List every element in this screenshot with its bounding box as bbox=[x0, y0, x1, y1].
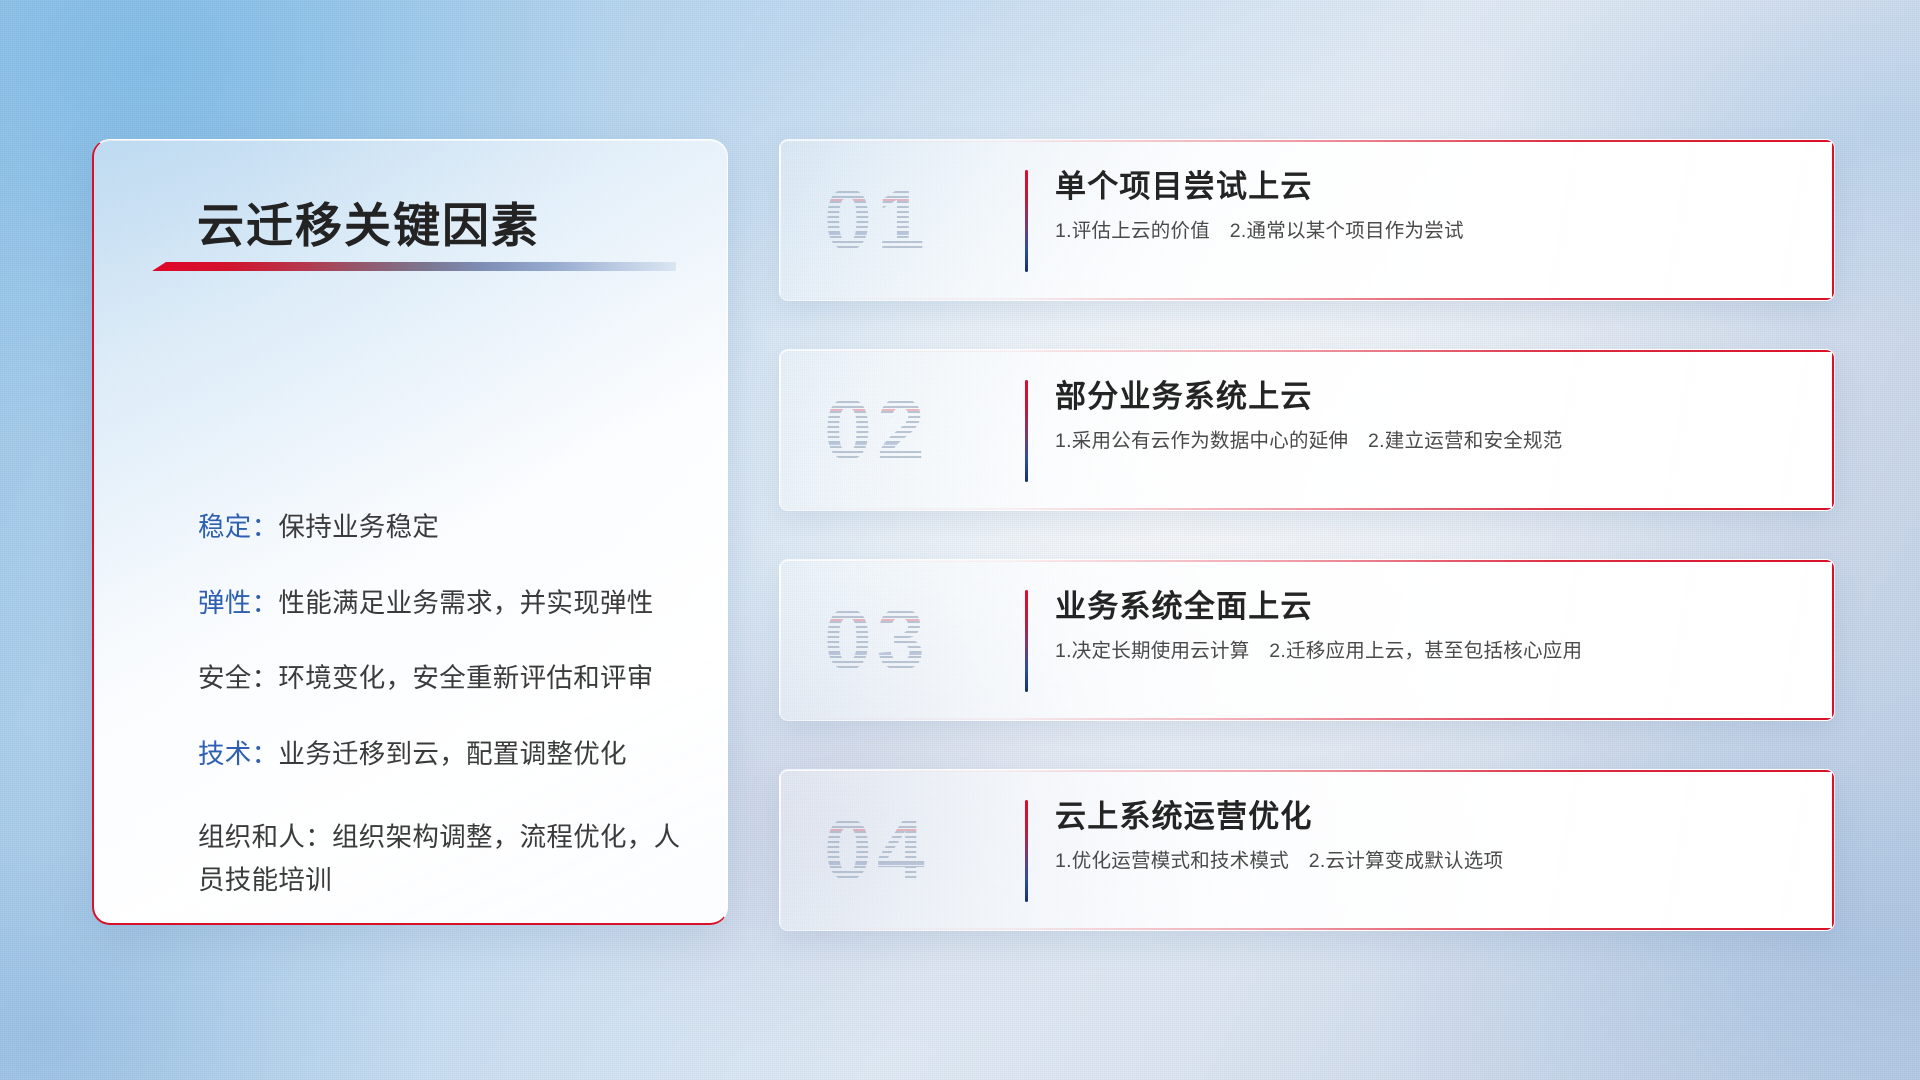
stage-accent-divider bbox=[1025, 170, 1028, 272]
stage-card-04[interactable]: 04 04 云上系统运营优化 1.优化运营模式和技术模式 2.云计算变成默认选项 bbox=[779, 769, 1835, 931]
card-border-right bbox=[1832, 560, 1834, 720]
stage-number-group: 03 03 bbox=[780, 560, 1020, 720]
stage-title: 部分业务系统上云 bbox=[1055, 379, 1810, 416]
stage-number-glitch-overlay: 01 bbox=[824, 177, 930, 263]
card-border-right bbox=[1832, 350, 1834, 510]
stage-accent-divider bbox=[1025, 590, 1028, 692]
stage-subtitle: 1.优化运营模式和技术模式 2.云计算变成默认选项 bbox=[1055, 849, 1810, 874]
stage-text-block: 部分业务系统上云 1.采用公有云作为数据中心的延伸 2.建立运营和安全规范 bbox=[1055, 379, 1810, 454]
card-border-right bbox=[1832, 140, 1834, 300]
key-factors-card: 云迁移关键因素 稳定：保持业务稳定 弹性：性能满足业务需求，并实现弹性 安全：环… bbox=[92, 139, 728, 925]
list-item: 稳定：保持业务稳定 bbox=[198, 513, 693, 543]
stage-accent-divider bbox=[1025, 800, 1028, 902]
stage-subtitle: 1.评估上云的价值 2.通常以某个项目作为尝试 bbox=[1055, 219, 1810, 244]
stage-accent-divider bbox=[1025, 380, 1028, 482]
list-item-value: 性能满足业务需求，并实现弹性 bbox=[278, 588, 653, 618]
stage-subtitle: 1.采用公有云作为数据中心的延伸 2.建立运营和安全规范 bbox=[1055, 429, 1810, 454]
page-title: 云迁移关键因素 bbox=[197, 187, 540, 256]
stage-number-glitch-overlay: 02 bbox=[824, 387, 930, 473]
stage-title: 单个项目尝试上云 bbox=[1055, 169, 1810, 206]
list-item-key: 安全： bbox=[198, 663, 278, 693]
stage-title: 业务系统全面上云 bbox=[1055, 589, 1810, 626]
list-item-value: 业务迁移到云，配置调整优化 bbox=[278, 739, 626, 769]
stage-number-group: 02 02 bbox=[780, 350, 1020, 510]
stage-text-block: 业务系统全面上云 1.决定长期使用云计算 2.迁移应用上云，甚至包括核心应用 bbox=[1055, 589, 1810, 664]
stage-subtitle: 1.决定长期使用云计算 2.迁移应用上云，甚至包括核心应用 bbox=[1055, 639, 1810, 664]
stage-card-01[interactable]: 01 01 单个项目尝试上云 1.评估上云的价值 2.通常以某个项目作为尝试 bbox=[779, 139, 1835, 301]
list-item-key: 弹性： bbox=[198, 588, 278, 618]
stage-card-03[interactable]: 03 03 业务系统全面上云 1.决定长期使用云计算 2.迁移应用上云，甚至包括… bbox=[779, 559, 1835, 721]
stage-text-block: 单个项目尝试上云 1.评估上云的价值 2.通常以某个项目作为尝试 bbox=[1055, 169, 1810, 244]
list-item-key: 稳定： bbox=[198, 512, 278, 542]
key-factors-list: 稳定：保持业务稳定 弹性：性能满足业务需求，并实现弹性 安全：环境变化，安全重新… bbox=[198, 513, 693, 902]
list-item: 弹性：性能满足业务需求，并实现弹性 bbox=[198, 589, 693, 619]
stage-number-glitch-overlay: 03 bbox=[824, 597, 930, 683]
list-item-value: 保持业务稳定 bbox=[278, 512, 439, 542]
stage-number-group: 01 01 bbox=[780, 140, 1020, 300]
stage-number-glitch-overlay: 04 bbox=[824, 807, 930, 893]
list-item-value: 环境变化，安全重新评估和评审 bbox=[278, 663, 653, 693]
card-border-right bbox=[1832, 770, 1834, 930]
list-item: 技术：业务迁移到云，配置调整优化 bbox=[198, 740, 693, 770]
stage-text-block: 云上系统运营优化 1.优化运营模式和技术模式 2.云计算变成默认选项 bbox=[1055, 799, 1810, 874]
list-item-key: 技术： bbox=[198, 739, 278, 769]
list-item-key: 组织和人： bbox=[198, 822, 332, 852]
slide-content: 云迁移关键因素 稳定：保持业务稳定 弹性：性能满足业务需求，并实现弹性 安全：环… bbox=[0, 0, 1920, 1080]
stage-card-02[interactable]: 02 02 部分业务系统上云 1.采用公有云作为数据中心的延伸 2.建立运营和安… bbox=[779, 349, 1835, 511]
list-item: 组织和人：组织架构调整，流程优化，人员技能培训 bbox=[198, 816, 693, 902]
stage-title: 云上系统运营优化 bbox=[1055, 799, 1810, 836]
list-item: 安全：环境变化，安全重新评估和评审 bbox=[198, 664, 693, 694]
stage-number-group: 04 04 bbox=[780, 770, 1020, 930]
title-underline-rule bbox=[152, 262, 676, 271]
